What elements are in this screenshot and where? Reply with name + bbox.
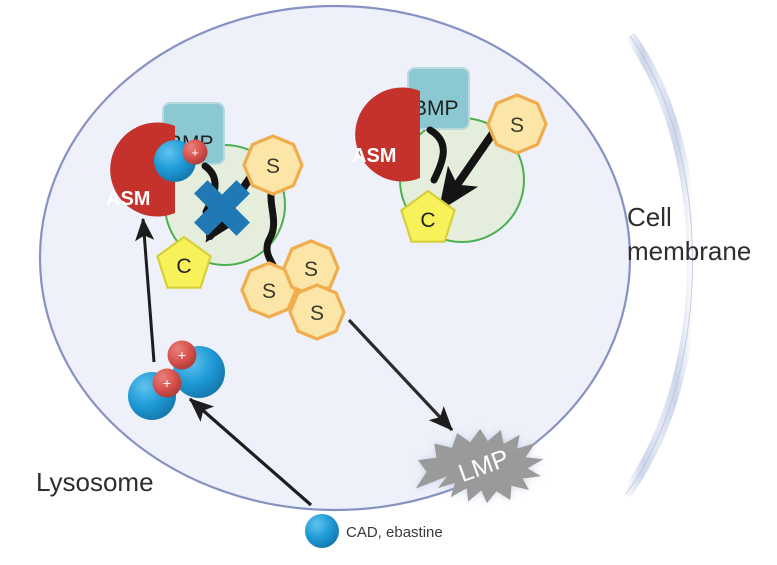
sphingomyelin-label: S — [304, 258, 318, 281]
asm-label-left: ASM — [106, 188, 150, 210]
cad-charge-symbol: + — [178, 347, 186, 363]
figure-canvas: Cell membrane Lysosome LMP BMP ASM + — [0, 0, 777, 565]
cell-membrane-label-line1: Cell — [627, 202, 672, 232]
sphingomyelin-label: S — [262, 280, 276, 303]
ceramide-label: C — [420, 209, 435, 232]
cad-legend-label: CAD, ebastine — [346, 524, 443, 541]
sphingomyelin-right: S — [488, 95, 546, 153]
cell-membrane-label-line2: membrane — [627, 236, 751, 266]
cad-legend-sphere — [305, 514, 339, 548]
lysosome-label: Lysosome — [36, 467, 154, 497]
cad-legend: CAD, ebastine — [305, 514, 443, 548]
ceramide-label: C — [176, 255, 191, 278]
cad-charge-symbol-bound: + — [191, 145, 199, 160]
sphingomyelin-label: S — [266, 155, 280, 178]
sphingomyelin-label: S — [310, 302, 324, 325]
asm-label-right: ASM — [352, 145, 396, 167]
sphingomyelin-free-3: S — [290, 285, 344, 339]
cad-charge-symbol: + — [163, 375, 171, 391]
sphingomyelin-left: S — [244, 136, 302, 194]
sphingomyelin-label: S — [510, 114, 524, 137]
